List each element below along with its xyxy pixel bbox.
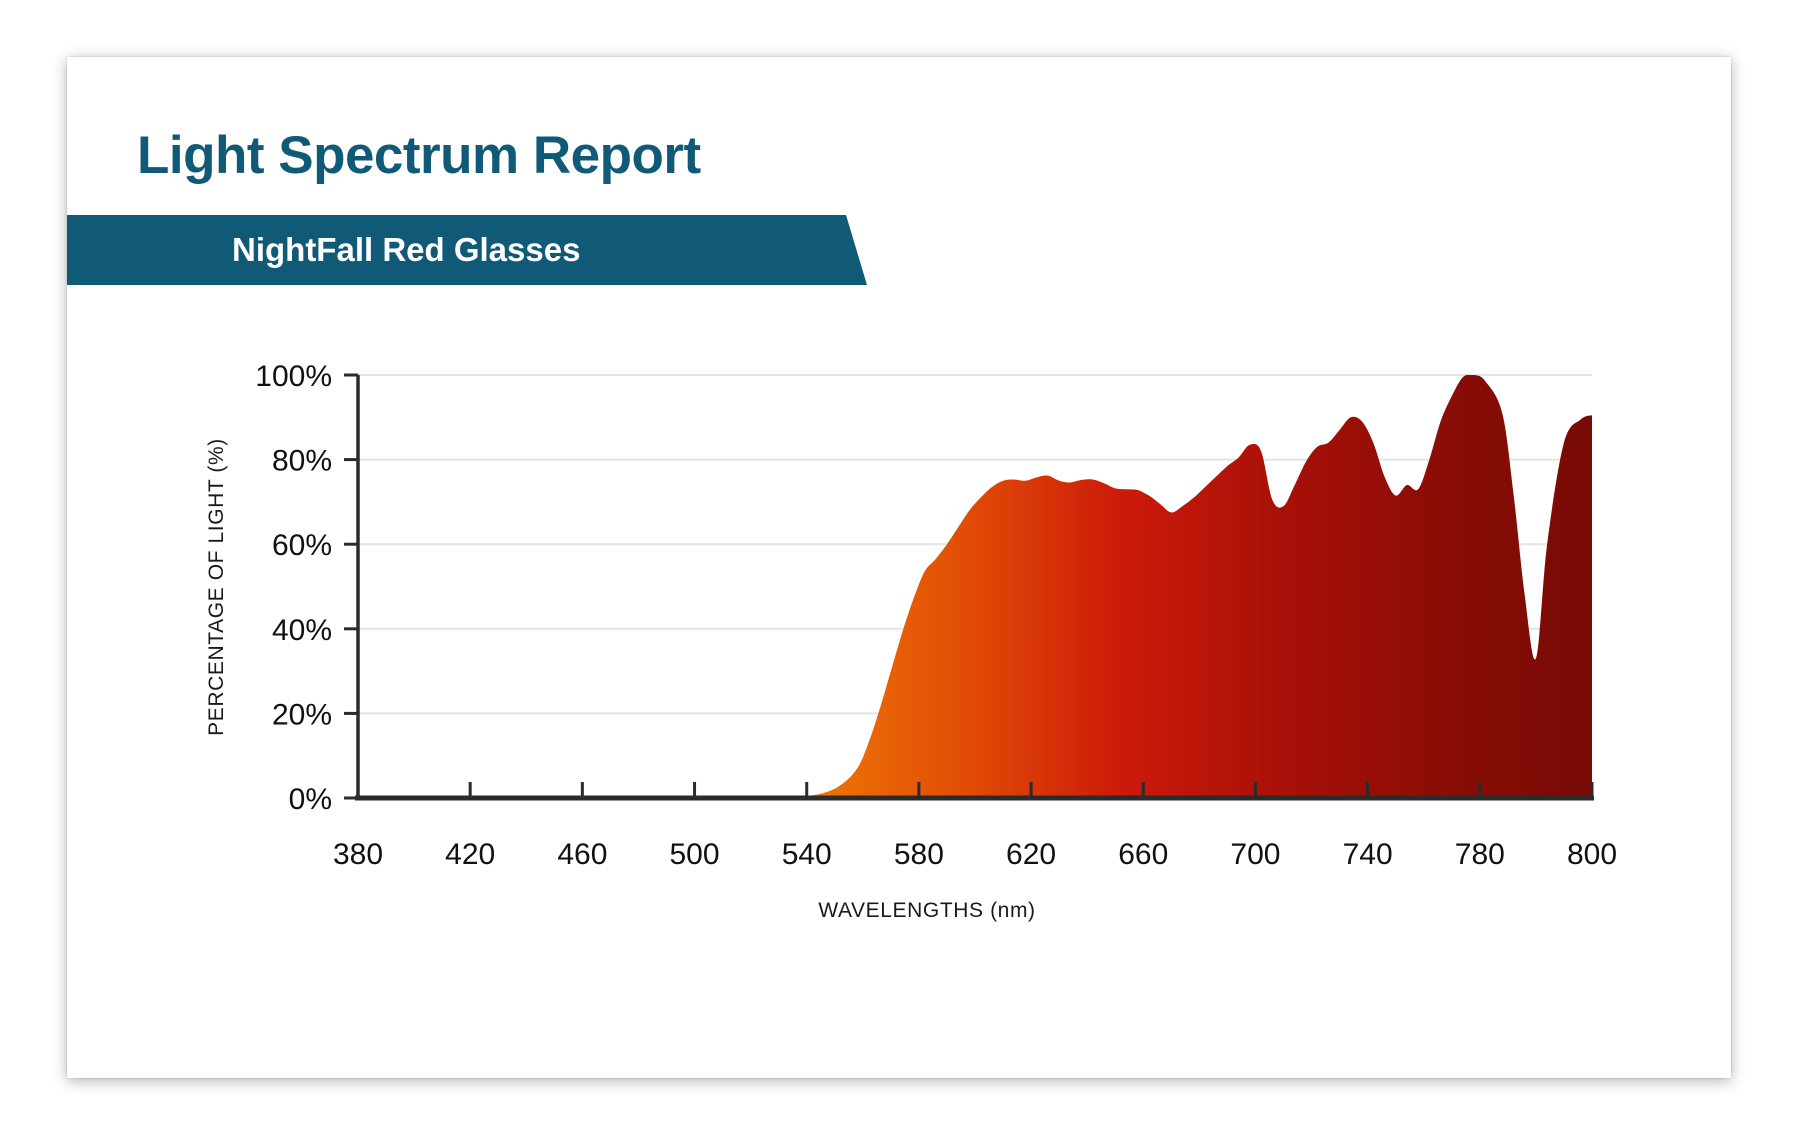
x-axis-title: WAVELENGTHS (nm): [818, 899, 1035, 922]
x-tick-label: 540: [782, 838, 832, 871]
page-title: Light Spectrum Report: [137, 125, 701, 186]
x-tick-label: 460: [557, 838, 607, 871]
y-tick-label: 20%: [272, 698, 332, 731]
x-tick-label: 500: [670, 838, 720, 871]
spectrum-area: [354, 374, 1592, 798]
y-tick-label: 60%: [272, 529, 332, 562]
report-card: Light Spectrum Report NightFall Red Glas…: [67, 57, 1731, 1078]
x-tick-label: 660: [1118, 838, 1168, 871]
x-tick-label: 580: [894, 838, 944, 871]
x-tick-label: 780: [1455, 838, 1505, 871]
y-axis-title: PERCENTAGE OF LIGHT (%): [205, 438, 228, 736]
y-tick-label: 100%: [255, 360, 332, 393]
chart-container: 0%20%40%60%80%100% 380420460500540580620…: [127, 267, 1727, 1047]
y-tick-label: 40%: [272, 614, 332, 647]
y-axis-tick-labels: 0%20%40%60%80%100%: [255, 360, 332, 816]
page-root: Light Spectrum Report NightFall Red Glas…: [0, 0, 1800, 1144]
y-tick-label: 0%: [289, 783, 332, 816]
x-tick-label: 800: [1567, 838, 1617, 871]
x-tick-label: 740: [1343, 838, 1393, 871]
y-axis-ticks: [344, 375, 358, 798]
x-axis-tick-labels: 380420460500540580620660700740780800: [333, 838, 1617, 871]
x-tick-label: 380: [333, 838, 383, 871]
x-tick-label: 620: [1006, 838, 1056, 871]
spectrum-chart: 0%20%40%60%80%100% 380420460500540580620…: [127, 267, 1727, 1047]
x-tick-label: 420: [445, 838, 495, 871]
y-tick-label: 80%: [272, 445, 332, 478]
x-tick-label: 700: [1230, 838, 1280, 871]
